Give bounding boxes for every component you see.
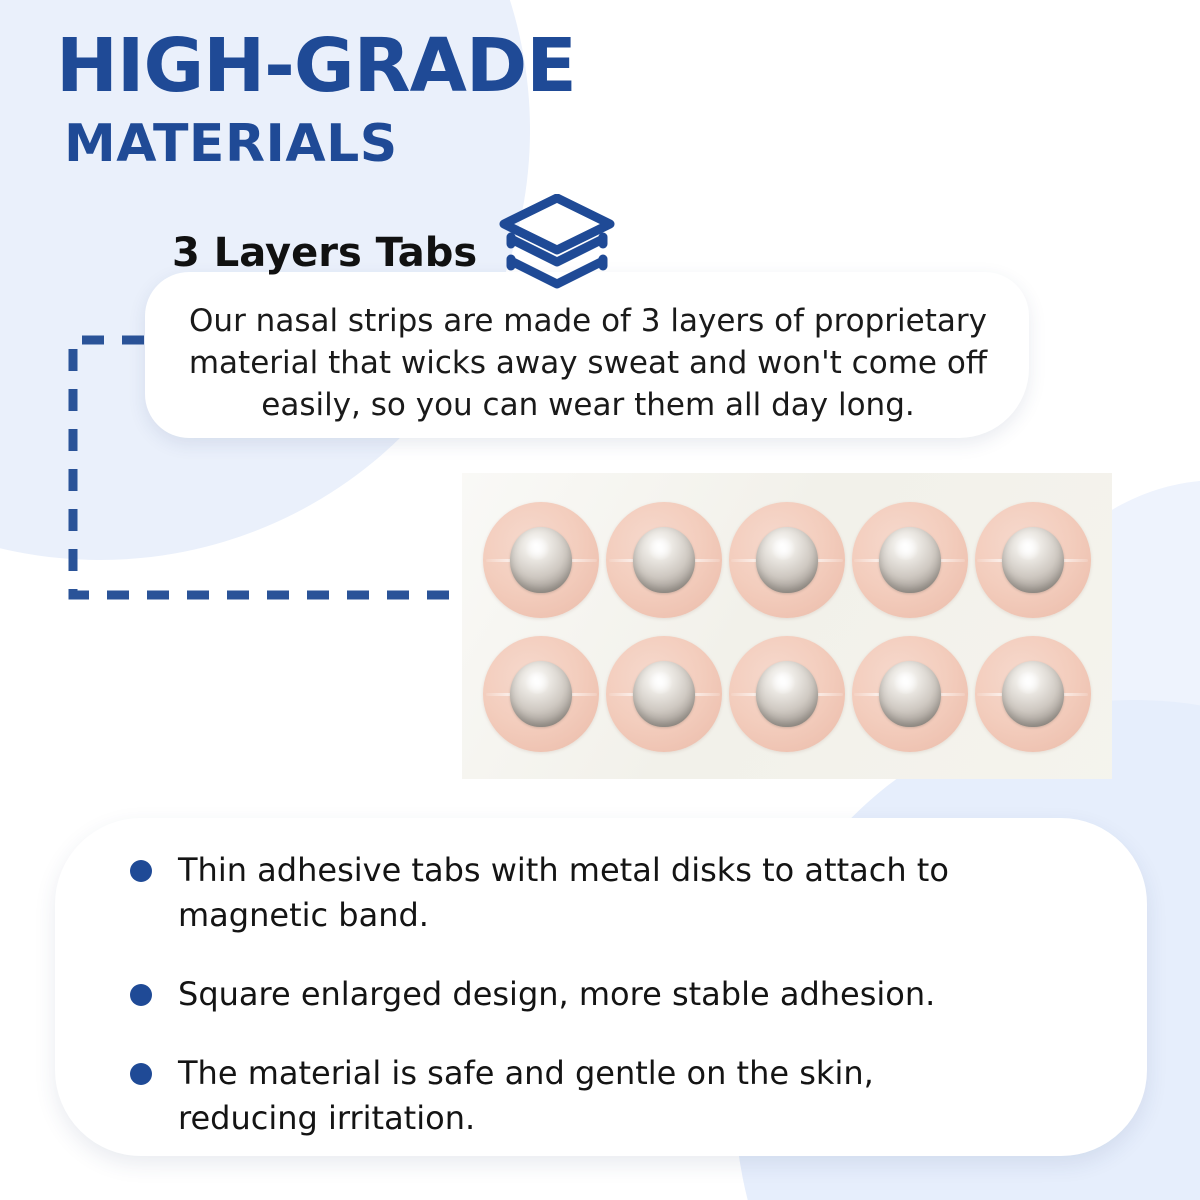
layers-icon xyxy=(498,194,616,290)
adhesive-tab xyxy=(852,636,968,752)
metal-disk xyxy=(633,661,695,727)
metal-disk xyxy=(633,527,695,593)
benefits-list: Thin adhesive tabs with metal disks to a… xyxy=(130,848,1070,1141)
metal-disk xyxy=(510,661,572,727)
metal-disk xyxy=(1002,661,1064,727)
adhesive-tab xyxy=(606,636,722,752)
metal-disk xyxy=(879,661,941,727)
list-item-label: The material is safe and gentle on the s… xyxy=(178,1051,988,1141)
feature-title: 3 Layers Tabs xyxy=(172,228,477,278)
layers-icon-svg xyxy=(498,194,616,290)
adhesive-tab xyxy=(729,502,845,618)
adhesive-tab xyxy=(729,636,845,752)
metal-disk xyxy=(510,527,572,593)
page-title: HIGH-GRADE MATERIALS xyxy=(56,24,756,174)
bullet-dot-icon xyxy=(130,984,152,1006)
metal-disk xyxy=(756,527,818,593)
metal-disk xyxy=(879,527,941,593)
list-item: The material is safe and gentle on the s… xyxy=(130,1051,1070,1141)
adhesive-tab xyxy=(975,502,1091,618)
infographic-canvas: HIGH-GRADE MATERIALS 3 Layers Tabs Our n… xyxy=(0,0,1200,1200)
list-item-label: Thin adhesive tabs with metal disks to a… xyxy=(178,848,988,938)
list-item-label: Square enlarged design, more stable adhe… xyxy=(178,972,935,1017)
bullet-dot-icon xyxy=(130,1063,152,1085)
bullet-dot-icon xyxy=(130,860,152,882)
adhesive-tab xyxy=(606,502,722,618)
metal-disk xyxy=(756,661,818,727)
headline-secondary: MATERIALS xyxy=(64,114,756,174)
metal-disk xyxy=(1002,527,1064,593)
adhesive-tab xyxy=(975,636,1091,752)
adhesive-tab xyxy=(852,502,968,618)
adhesive-tab-grid xyxy=(480,493,1094,761)
headline-primary: HIGH-GRADE xyxy=(56,24,756,108)
adhesive-tab xyxy=(483,636,599,752)
adhesive-tab xyxy=(483,502,599,618)
list-item: Thin adhesive tabs with metal disks to a… xyxy=(130,848,1070,938)
feature-description: Our nasal strips are made of 3 layers of… xyxy=(162,300,1014,426)
list-item: Square enlarged design, more stable adhe… xyxy=(130,972,1070,1017)
product-photo xyxy=(462,473,1112,779)
